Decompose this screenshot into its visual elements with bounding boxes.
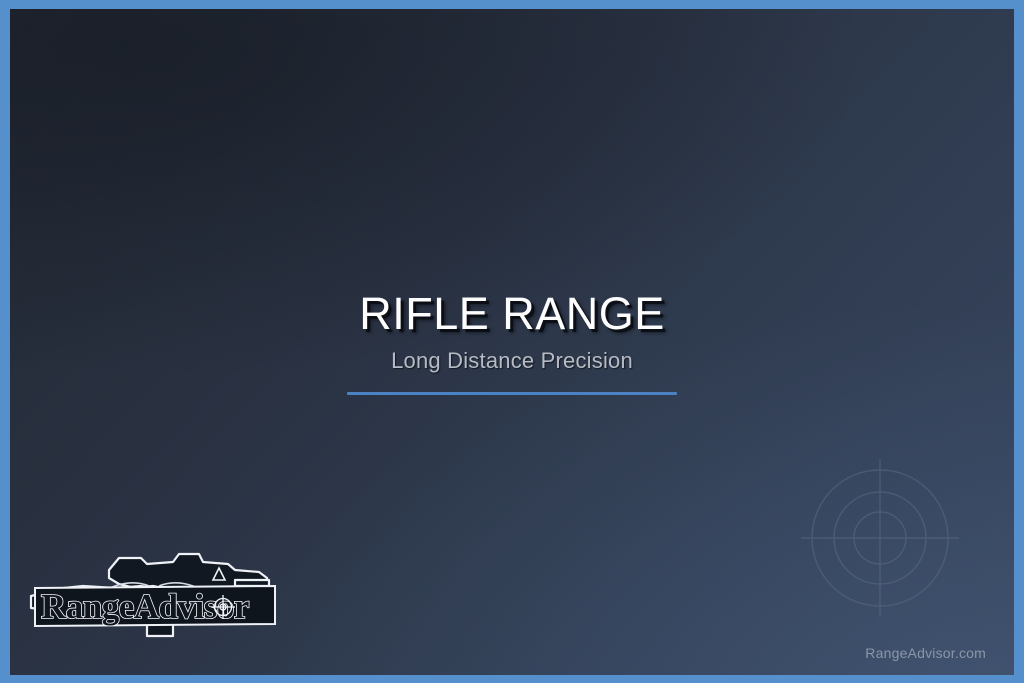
star-icon xyxy=(213,568,225,580)
page-title: RIFLE RANGE xyxy=(10,290,1014,337)
site-watermark: RangeAdvisor.com xyxy=(865,645,986,661)
crosshair-reticle-icon xyxy=(211,595,235,619)
rangeadvisor-logo: RangeAdvisor xyxy=(23,540,283,650)
slide-canvas: RIFLE RANGE Long Distance Precision xyxy=(10,9,1014,675)
wing-burst-icon xyxy=(97,583,211,608)
rifle-silhouette-icon xyxy=(31,554,269,636)
logo-wordmark: RangeAdvisor xyxy=(41,587,249,626)
logo-banner xyxy=(35,586,275,626)
presentation-slide: RIFLE RANGE Long Distance Precision xyxy=(0,0,1024,683)
title-block: RIFLE RANGE Long Distance Precision xyxy=(10,290,1014,395)
crosshair-target-icon xyxy=(791,449,969,627)
page-subtitle: Long Distance Precision xyxy=(10,349,1014,373)
title-accent-rule xyxy=(347,392,677,395)
